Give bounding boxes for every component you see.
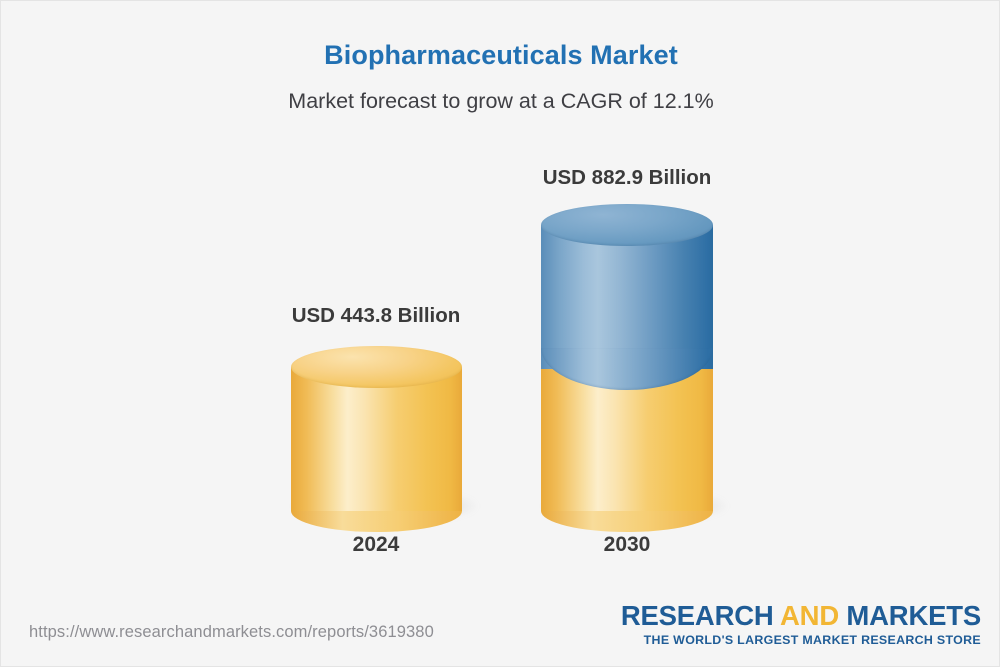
logo-wordmark: RESEARCH AND MARKETS (621, 602, 981, 630)
research-and-markets-logo: RESEARCH AND MARKETS THE WORLD'S LARGEST… (621, 602, 981, 647)
report-url[interactable]: https://www.researchandmarkets.com/repor… (29, 623, 434, 642)
logo-word-markets: MARKETS (839, 600, 981, 631)
bar-value-label-2030: USD 882.9 Billion (467, 166, 787, 190)
cylinder-body-2024 (291, 367, 462, 511)
cylinder-body-base-2030 (541, 369, 713, 511)
cylinder-top-cap-2030 (541, 204, 713, 246)
infographic-canvas: Biopharmaceuticals Market Market forecas… (0, 0, 1000, 667)
logo-word-research: RESEARCH (621, 600, 780, 631)
logo-tagline: THE WORLD'S LARGEST MARKET RESEARCH STOR… (621, 633, 981, 647)
logo-word-and: AND (780, 600, 839, 631)
bar-category-label-2030: 2030 (467, 533, 787, 557)
chart-plot-area: USD 443.8 Billion 2024 USD 882.9 Billion (1, 1, 1000, 667)
cylinder-top-cap-2024 (291, 346, 462, 388)
bar-value-label-2024: USD 443.8 Billion (216, 304, 536, 328)
